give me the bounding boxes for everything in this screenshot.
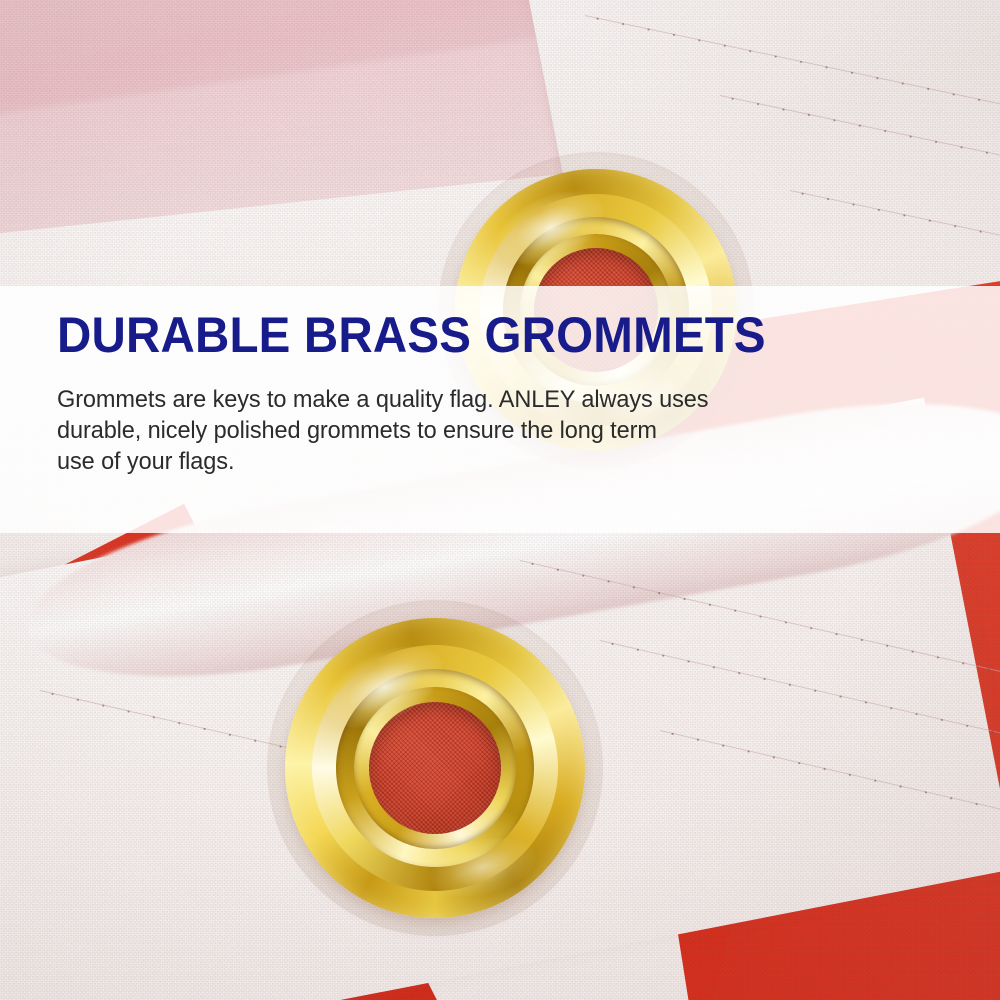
text-overlay-band: DURABLE BRASS GROMMETS Grommets are keys… [0, 286, 1000, 533]
body-copy: Grommets are keys to make a quality flag… [57, 384, 924, 477]
headline: DURABLE BRASS GROMMETS [57, 310, 915, 360]
body-copy-line-2: durable, nicely polished grommets to ens… [57, 415, 924, 446]
lower-grommet [285, 618, 585, 918]
body-copy-line-1: Grommets are keys to make a quality flag… [57, 384, 924, 415]
product-feature-image: DURABLE BRASS GROMMETS Grommets are keys… [0, 0, 1000, 1000]
text-overlay-content: DURABLE BRASS GROMMETS Grommets are keys… [57, 310, 960, 477]
lower-grommet-hole [369, 702, 501, 834]
body-copy-line-3: use of your flags. [57, 446, 924, 477]
